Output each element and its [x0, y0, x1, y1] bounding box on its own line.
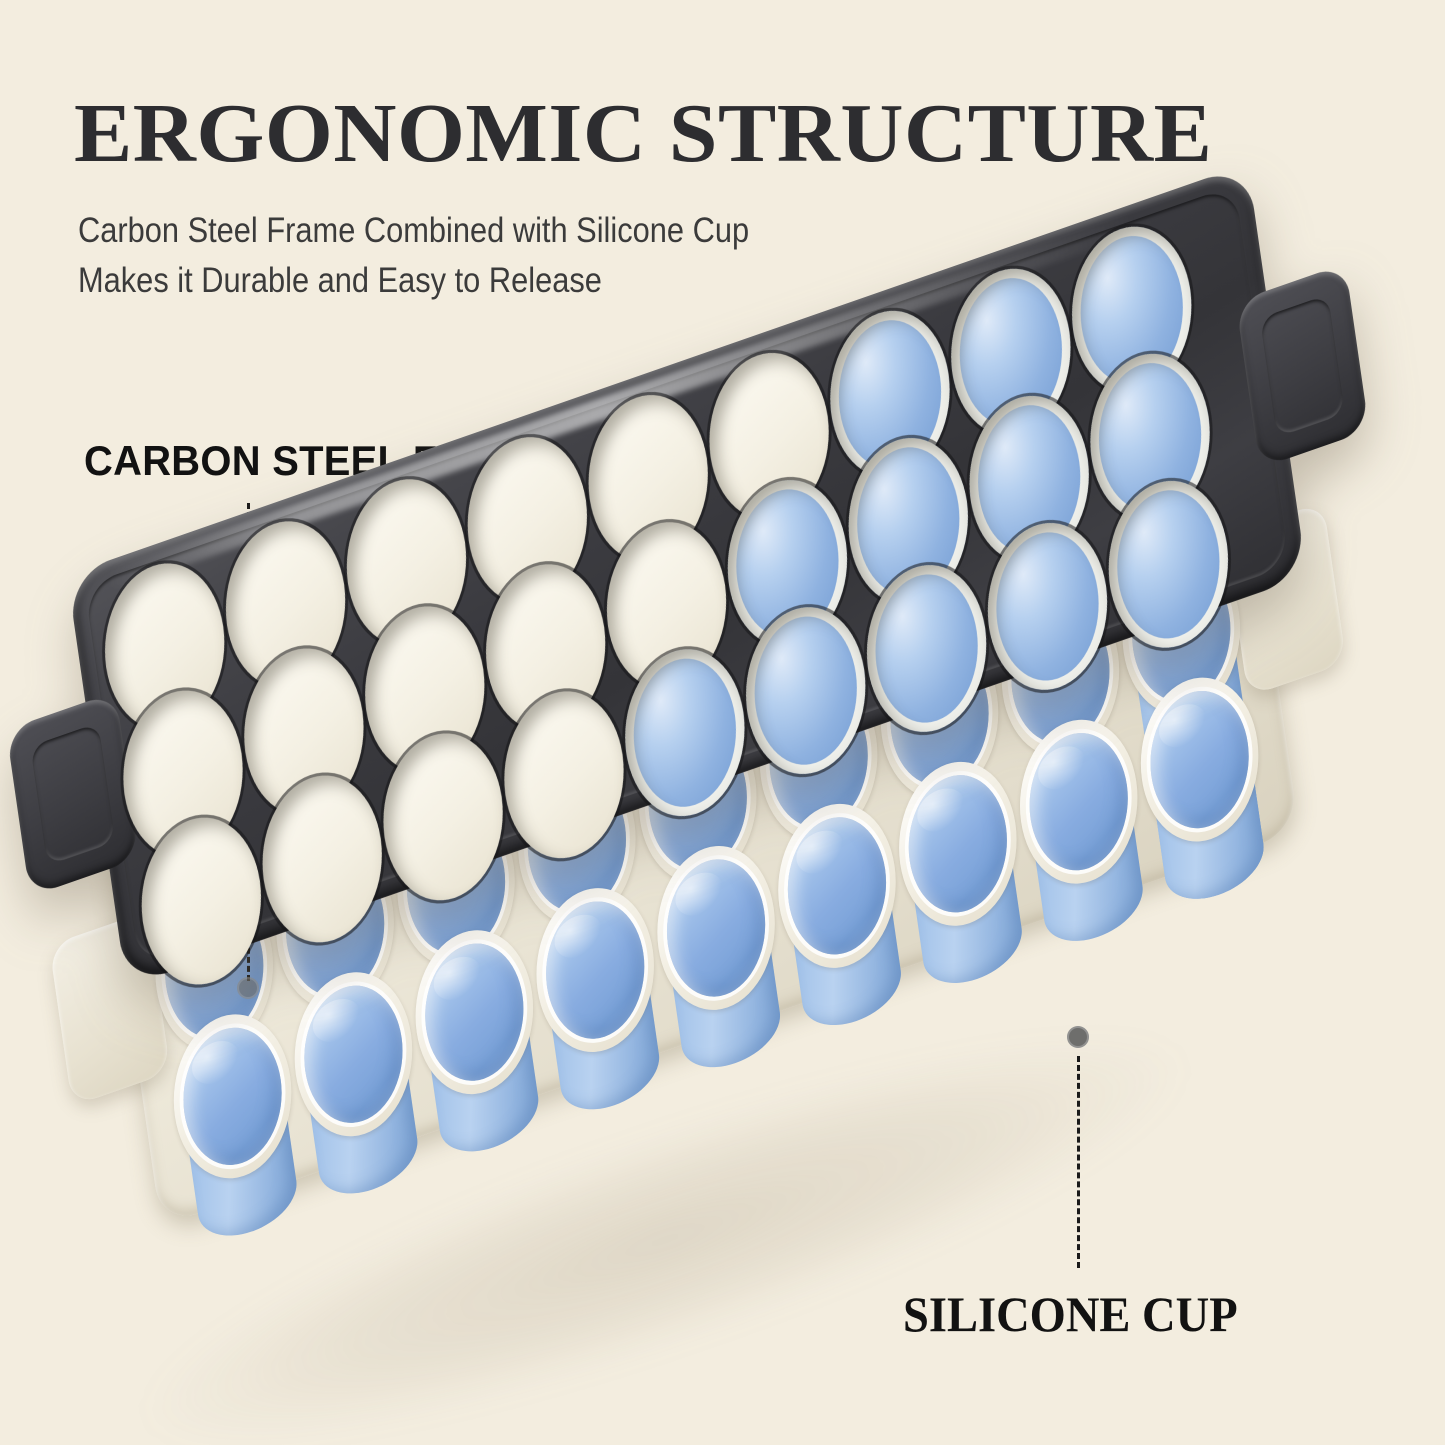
hole-interior	[820, 293, 960, 496]
callout-label-silicone-cup: SILICONE CUP	[903, 1285, 1238, 1343]
frame-hole-over-cup	[1098, 463, 1238, 666]
hole-inner-shadow	[820, 293, 960, 496]
silicone-cup-underside	[790, 885, 905, 1038]
silicone-cup-underside	[1153, 758, 1268, 911]
hole-interior	[578, 377, 718, 580]
callout-leader-carbon-steel-frame	[247, 503, 250, 981]
page-title: ERGONOMIC STRUCTURE	[74, 92, 1212, 176]
silicone-cup	[266, 828, 404, 1027]
silicone-cup	[1131, 660, 1269, 859]
silicone-cup	[647, 828, 785, 1027]
silicone-cup-underside	[548, 969, 663, 1122]
callout-marker-silicone-cup	[1067, 1026, 1089, 1048]
frame-hole-over-cup	[1080, 336, 1220, 539]
silicone-cup	[1010, 702, 1148, 901]
frame-hole-over-cup	[1062, 209, 1202, 412]
hole-interior	[717, 462, 857, 665]
hole-interior	[977, 505, 1117, 708]
hole-inner-shadow	[941, 251, 1081, 454]
silicone-tray-handle-right	[1225, 502, 1346, 697]
silicone-cup-underside	[186, 1095, 301, 1248]
frame-hole-over-cup	[736, 589, 876, 792]
hole-interior	[373, 716, 513, 919]
silicone-cup	[889, 744, 1027, 943]
hole-interior	[355, 588, 495, 791]
hole-interior	[699, 335, 839, 538]
frame-hole-over-cup	[820, 293, 960, 496]
silicone-cup	[526, 871, 664, 1070]
hole-interior	[1062, 209, 1202, 412]
frame-hole-over-deck	[596, 504, 736, 707]
hole-inner-shadow	[838, 420, 978, 623]
frame-hole-over-deck	[215, 503, 355, 706]
silicone-cup	[508, 743, 646, 942]
hole-interior	[596, 504, 736, 707]
hole-inner-shadow	[113, 673, 253, 876]
frame-hole-over-deck	[94, 545, 234, 748]
silicone-cup	[973, 448, 1111, 647]
frame-hole-over-cup	[941, 251, 1081, 454]
hole-inner-shadow	[596, 504, 736, 707]
frame-hole-over-deck	[336, 461, 476, 664]
hole-interior	[131, 800, 271, 1003]
silicone-cup	[145, 870, 283, 1069]
frame-hole-over-deck	[113, 673, 253, 876]
silicone-cup	[369, 658, 507, 857]
silicone-cup-underside	[1032, 800, 1147, 953]
silicone-cup-underside	[1134, 631, 1249, 784]
silicone-cup	[387, 786, 525, 985]
hole-inner-shadow	[717, 462, 857, 665]
silicone-cup-underside	[307, 1053, 422, 1206]
silicone-cup	[284, 955, 422, 1154]
frame-hole-over-deck	[475, 546, 615, 749]
hole-interior	[615, 631, 755, 834]
callout-label-carbon-steel-frame: CARBON STEEL FRAME	[84, 437, 556, 485]
hole-inner-shadow	[355, 588, 495, 791]
carbon-steel-frame-handle-right	[1236, 263, 1370, 468]
frame-hole-over-deck	[373, 716, 513, 919]
hole-inner-shadow	[234, 631, 374, 834]
hole-inner-shadow	[373, 716, 513, 919]
hole-interior	[1098, 463, 1238, 666]
frame-hole-over-deck	[355, 588, 495, 791]
silicone-cup-underside	[1116, 504, 1231, 657]
hole-interior	[234, 631, 374, 834]
silicone-cup	[610, 574, 748, 773]
silicone-cup	[127, 743, 265, 942]
hole-inner-shadow	[336, 461, 476, 664]
hole-inner-shadow	[1080, 336, 1220, 539]
silicone-cup	[490, 616, 628, 815]
silicone-cup	[852, 490, 990, 689]
frame-hole-over-deck	[699, 335, 839, 538]
silicone-cup	[1094, 406, 1232, 605]
silicone-cup	[248, 700, 386, 899]
silicone-cup	[991, 575, 1129, 774]
hole-interior	[475, 546, 615, 749]
silicone-cup	[870, 617, 1008, 816]
hole-inner-shadow	[1098, 463, 1238, 666]
hole-interior	[838, 420, 978, 623]
hole-interior	[1080, 336, 1220, 539]
hole-inner-shadow	[977, 505, 1117, 708]
hole-interior	[856, 547, 996, 750]
hole-inner-shadow	[959, 378, 1099, 581]
silicone-tray	[96, 378, 1299, 1226]
frame-hole-over-deck	[234, 631, 374, 834]
silicone-cup-underside	[1153, 758, 1268, 911]
hole-interior	[494, 673, 634, 876]
hole-inner-shadow	[615, 631, 755, 834]
silicone-cup	[629, 701, 767, 900]
hole-interior	[215, 503, 355, 706]
silicone-cup	[768, 786, 906, 985]
silicone-cup-underside	[911, 843, 1026, 996]
frame-hole-over-deck	[252, 758, 392, 961]
silicone-tray-body	[96, 378, 1299, 1226]
hole-inner-shadow	[494, 673, 634, 876]
hole-interior	[959, 378, 1099, 581]
silicone-cup	[1112, 533, 1250, 732]
frame-hole-over-deck	[131, 800, 271, 1003]
frame-hole-over-cup	[959, 378, 1099, 581]
frame-hole-over-deck	[494, 673, 634, 876]
silicone-cup-underside	[669, 927, 784, 1080]
silicone-cup	[731, 532, 869, 731]
hole-interior	[94, 545, 234, 748]
frame-hole-over-deck	[578, 377, 718, 580]
frame-hole-over-cup	[856, 547, 996, 750]
hole-inner-shadow	[578, 377, 718, 580]
hole-inner-shadow	[856, 547, 996, 750]
callout-marker-carbon-steel-frame	[237, 977, 259, 999]
silicone-cup-underside	[427, 1011, 542, 1164]
hole-inner-shadow	[131, 800, 271, 1003]
hole-interior	[736, 589, 876, 792]
carbon-steel-frame-handle-left	[6, 692, 140, 897]
silicone-cup	[405, 913, 543, 1112]
frame-hole-over-cup	[838, 420, 978, 623]
hole-inner-shadow	[699, 335, 839, 538]
hole-interior	[336, 461, 476, 664]
silicone-tray-handle-left	[49, 911, 170, 1106]
silicone-cup	[750, 659, 888, 858]
silicone-cup	[163, 997, 301, 1196]
frame-hole-over-cup	[615, 631, 755, 834]
hole-inner-shadow	[94, 545, 234, 748]
hole-inner-shadow	[1062, 209, 1202, 412]
frame-hole-over-cup	[977, 505, 1117, 708]
hole-interior	[252, 758, 392, 961]
hole-inner-shadow	[736, 589, 876, 792]
hole-inner-shadow	[215, 503, 355, 706]
hole-interior	[941, 251, 1081, 454]
hole-inner-shadow	[475, 546, 615, 749]
infographic-canvas: ERGONOMIC STRUCTURE Carbon Steel Frame C…	[0, 0, 1445, 1445]
hole-interior	[113, 673, 253, 876]
hole-inner-shadow	[252, 758, 392, 961]
page-subtitle: Carbon Steel Frame Combined with Silicon…	[78, 206, 749, 307]
drop-shadow	[117, 968, 1213, 1445]
callout-leader-silicone-cup	[1077, 1056, 1080, 1268]
frame-hole-over-cup	[717, 462, 857, 665]
